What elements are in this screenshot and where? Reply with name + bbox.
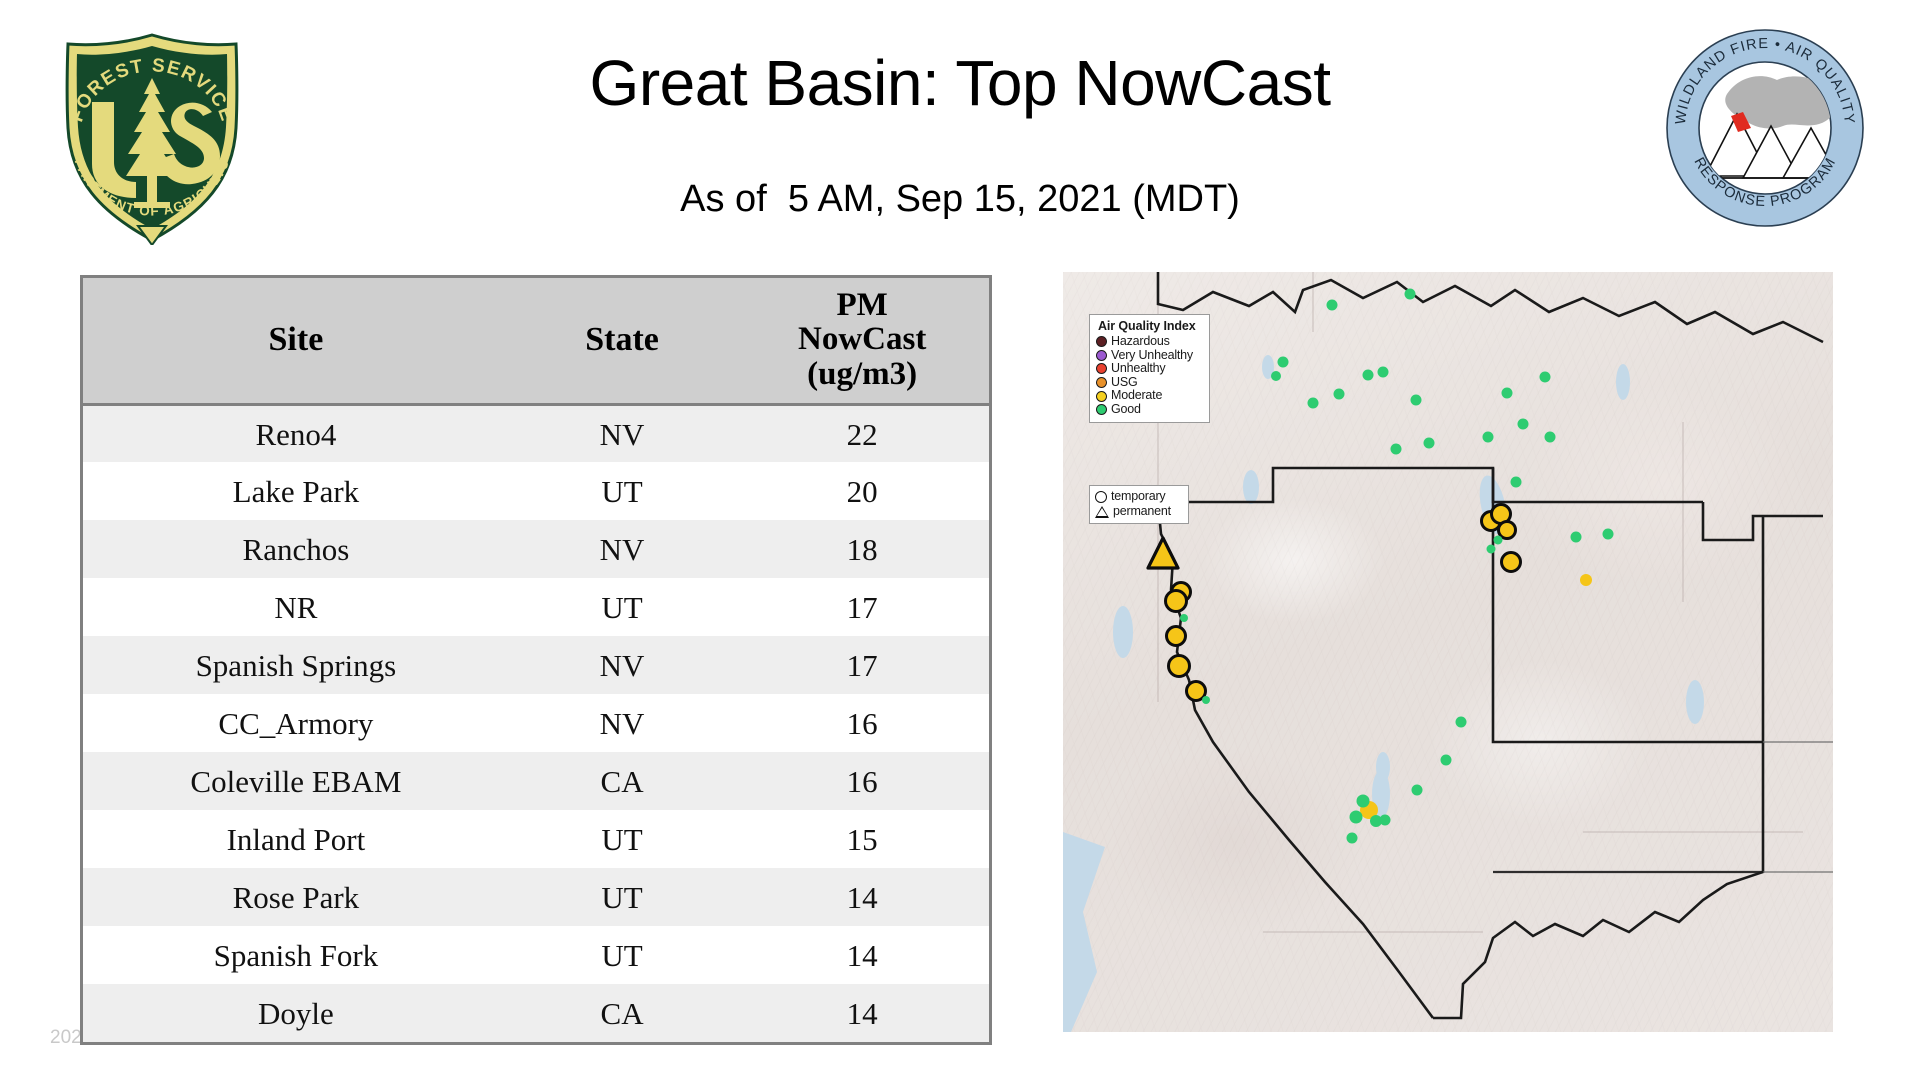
table-cell-site: NR — [83, 578, 509, 636]
map-marker-good-site[interactable] — [1378, 367, 1389, 378]
map-marker-good-site[interactable] — [1502, 388, 1513, 399]
table-cell-pm-nowcast: 17 — [735, 578, 989, 636]
aqi-swatch-icon — [1096, 363, 1107, 374]
table-cell-state: CA — [509, 984, 736, 1042]
aqi-swatch-icon — [1096, 391, 1107, 402]
map-marker-good-site[interactable] — [1494, 536, 1503, 545]
map-marker-good-site[interactable] — [1603, 529, 1614, 540]
map-marker-good-site[interactable] — [1327, 300, 1338, 311]
legend-label: Moderate — [1111, 389, 1162, 403]
map-marker-moderate-site[interactable] — [1580, 574, 1592, 586]
map-marker-good-site[interactable] — [1180, 614, 1188, 622]
table-cell-site: Lake Park — [83, 462, 509, 520]
table-cell-site: Spanish Springs — [83, 636, 509, 694]
table-cell-pm-nowcast: 18 — [735, 520, 989, 578]
legend-row-moderate: Moderate — [1096, 389, 1204, 403]
map-marker-good-site[interactable] — [1271, 371, 1281, 381]
table-cell-state: NV — [509, 404, 736, 462]
map-marker-good-site[interactable] — [1347, 833, 1358, 844]
legend-row-usg: USG — [1096, 376, 1204, 390]
map-marker-good-site[interactable] — [1424, 438, 1435, 449]
table-cell-site: Ranchos — [83, 520, 509, 578]
map-marker-good-site[interactable] — [1350, 811, 1363, 824]
table-cell-state: UT — [509, 578, 736, 636]
legend-label: USG — [1111, 376, 1138, 390]
table-cell-pm-nowcast: 17 — [735, 636, 989, 694]
table-row[interactable]: Inland PortUT15 — [83, 810, 989, 868]
table-row[interactable]: RanchosNV18 — [83, 520, 989, 578]
legend-row-temporary: temporary — [1095, 489, 1183, 504]
table-cell-state: UT — [509, 810, 736, 868]
table-row[interactable]: CC_ArmoryNV16 — [83, 694, 989, 752]
table-header-row: Site State PM NowCast (ug/m3) — [83, 278, 989, 404]
legend-row-hazardous: Hazardous — [1096, 335, 1204, 349]
map-legend-air-quality-index: Air Quality Index HazardousVery Unhealth… — [1089, 314, 1210, 423]
map-marker-good-site[interactable] — [1545, 432, 1556, 443]
table-row[interactable]: Spanish ForkUT14 — [83, 926, 989, 984]
table-cell-site: Reno4 — [83, 404, 509, 462]
table-cell-state: UT — [509, 868, 736, 926]
page-title: Great Basin: Top NowCast — [0, 50, 1920, 117]
wildland-fire-air-quality-response-program-logo: WILDLAND FIRE • AIR QUALITY RESPONSE PRO… — [1665, 28, 1865, 228]
column-header-pm-nowcast[interactable]: PM NowCast (ug/m3) — [735, 278, 989, 404]
slide-root: 2021-09-15 PM2.5 FCSTS — [0, 0, 1920, 1080]
legend-items: HazardousVery UnhealthyUnhealthyUSGModer… — [1096, 335, 1204, 417]
map-marker-good-site[interactable] — [1405, 289, 1416, 300]
table-cell-pm-nowcast: 22 — [735, 404, 989, 462]
table-cell-site: Spanish Fork — [83, 926, 509, 984]
legend-label: Very Unhealthy — [1111, 349, 1193, 363]
circle-icon — [1095, 491, 1107, 503]
map-marker-moderate-site[interactable] — [1167, 654, 1191, 678]
aqi-swatch-icon — [1096, 404, 1107, 415]
map-marker-permanent-site[interactable] — [1145, 535, 1181, 571]
map-legend-site-type: temporary permanent — [1089, 485, 1189, 524]
top-nowcast-table-container: Site State PM NowCast (ug/m3) Reno4NV22L… — [80, 275, 992, 1045]
page-subtitle: As of 5 AM, Sep 15, 2021 (MDT) — [0, 178, 1920, 221]
aqi-swatch-icon — [1096, 336, 1107, 347]
table-cell-pm-nowcast: 14 — [735, 868, 989, 926]
legend-label-permanent: permanent — [1113, 504, 1171, 519]
aqi-swatch-icon — [1096, 377, 1107, 388]
map-marker-good-site[interactable] — [1380, 815, 1391, 826]
map-marker-good-site[interactable] — [1483, 432, 1494, 443]
map-marker-good-site[interactable] — [1540, 372, 1551, 383]
map-marker-good-site[interactable] — [1412, 785, 1423, 796]
legend-label: Hazardous — [1111, 335, 1170, 349]
column-header-site[interactable]: Site — [83, 278, 509, 404]
table-cell-pm-nowcast: 14 — [735, 926, 989, 984]
map-marker-good-site[interactable] — [1411, 395, 1422, 406]
table-cell-pm-nowcast: 16 — [735, 694, 989, 752]
map-marker-moderate-site[interactable] — [1500, 551, 1522, 573]
table-row[interactable]: Reno4NV22 — [83, 404, 989, 462]
map-marker-good-site[interactable] — [1456, 717, 1467, 728]
map-marker-good-site[interactable] — [1391, 444, 1402, 455]
map-marker-good-site[interactable] — [1308, 398, 1319, 409]
triangle-icon — [1095, 506, 1109, 518]
table-cell-state: UT — [509, 462, 736, 520]
table-cell-site: Coleville EBAM — [83, 752, 509, 810]
table-cell-state: NV — [509, 636, 736, 694]
table-cell-state: NV — [509, 520, 736, 578]
table-cell-pm-nowcast: 16 — [735, 752, 989, 810]
map-marker-good-site[interactable] — [1202, 696, 1210, 704]
table-cell-state: NV — [509, 694, 736, 752]
legend-row-unhealthy: Unhealthy — [1096, 362, 1204, 376]
legend-label: Unhealthy — [1111, 362, 1166, 376]
map-marker-moderate-site[interactable] — [1165, 625, 1187, 647]
table-cell-site: Doyle — [83, 984, 509, 1042]
legend-label: Good — [1111, 403, 1141, 417]
map-marker-good-site[interactable] — [1571, 532, 1582, 543]
table-cell-site: Inland Port — [83, 810, 509, 868]
column-header-state[interactable]: State — [509, 278, 736, 404]
great-basin-aqi-map[interactable]: Air Quality Index HazardousVery Unhealth… — [1063, 272, 1833, 1032]
legend-row-permanent: permanent — [1095, 504, 1183, 519]
table-cell-state: CA — [509, 752, 736, 810]
map-marker-good-site[interactable] — [1357, 795, 1370, 808]
map-marker-good-site[interactable] — [1363, 370, 1374, 381]
map-marker-good-site[interactable] — [1334, 389, 1345, 400]
map-marker-good-site[interactable] — [1278, 357, 1289, 368]
table-cell-site: CC_Armory — [83, 694, 509, 752]
table-cell-pm-nowcast: 15 — [735, 810, 989, 868]
legend-row-very-unhealthy: Very Unhealthy — [1096, 349, 1204, 363]
map-marker-good-site[interactable] — [1441, 755, 1452, 766]
table-cell-site: Rose Park — [83, 868, 509, 926]
table-row[interactable]: NRUT17 — [83, 578, 989, 636]
table-cell-pm-nowcast: 14 — [735, 984, 989, 1042]
map-marker-moderate-site[interactable] — [1164, 589, 1188, 613]
map-marker-good-site[interactable] — [1511, 477, 1522, 488]
table-row[interactable]: Coleville EBAMCA16 — [83, 752, 989, 810]
map-marker-good-site[interactable] — [1487, 545, 1496, 554]
table-body: Reno4NV22Lake ParkUT20RanchosNV18NRUT17S… — [83, 404, 989, 1042]
table-row[interactable]: DoyleCA14 — [83, 984, 989, 1042]
table-row[interactable]: Rose ParkUT14 — [83, 868, 989, 926]
table-row[interactable]: Lake ParkUT20 — [83, 462, 989, 520]
top-nowcast-table: Site State PM NowCast (ug/m3) Reno4NV22L… — [83, 278, 989, 1042]
legend-title: Air Quality Index — [1098, 319, 1204, 333]
legend-label-temporary: temporary — [1111, 489, 1165, 504]
table-cell-pm-nowcast: 20 — [735, 462, 989, 520]
legend-row-good: Good — [1096, 403, 1204, 417]
table-row[interactable]: Spanish SpringsNV17 — [83, 636, 989, 694]
table-cell-state: UT — [509, 926, 736, 984]
table-header: Site State PM NowCast (ug/m3) — [83, 278, 989, 404]
map-marker-good-site[interactable] — [1518, 419, 1529, 430]
aqi-swatch-icon — [1096, 350, 1107, 361]
